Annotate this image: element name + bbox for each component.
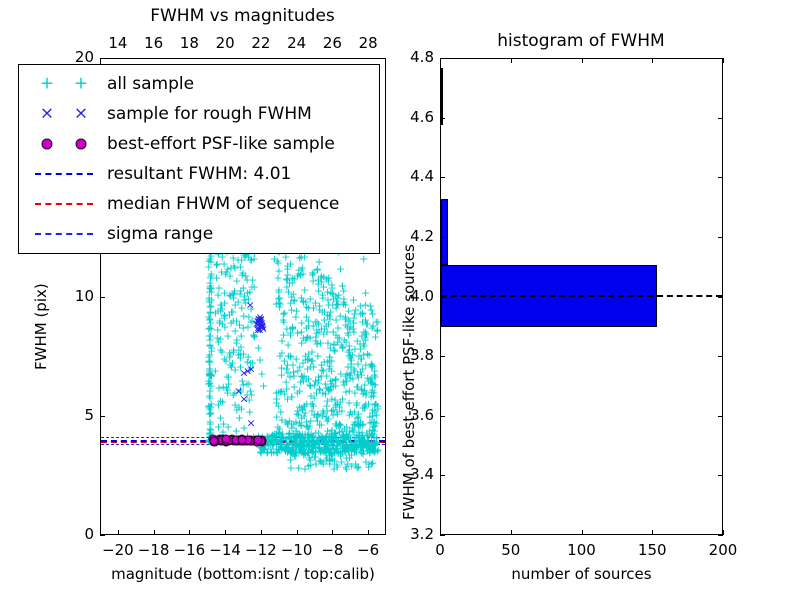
axis-tick xyxy=(582,530,583,535)
legend-marker-plus-icon: ++ xyxy=(25,69,103,99)
axis-tick-label: 5 xyxy=(56,406,94,424)
legend-item: median FHWM of sequence xyxy=(25,189,371,219)
scatter-point-all-sample: + xyxy=(336,263,345,274)
axis-tick xyxy=(332,530,333,535)
scatter-point-all-sample: + xyxy=(373,316,382,327)
scatter-point-all-sample: + xyxy=(212,260,221,271)
axis-tick xyxy=(718,297,723,298)
legend-line-icon xyxy=(35,173,93,175)
scatter-point-rough-fwhm: × xyxy=(257,321,266,332)
scatter-point-all-sample: + xyxy=(308,399,317,410)
legend-item-label: median FHWM of sequence xyxy=(103,194,339,214)
scatter-point-all-sample: + xyxy=(368,428,377,439)
legend-item-label: best-effort PSF-like sample xyxy=(103,134,335,154)
scatter-point-psf-like xyxy=(222,435,231,444)
scatter-point-all-sample: + xyxy=(224,378,233,389)
axis-tick-label: 4.4 xyxy=(392,167,434,185)
legend-plus-icon: + xyxy=(40,76,54,93)
axis-tick-label: 200 xyxy=(701,541,745,559)
scatter-point-all-sample: + xyxy=(360,402,369,413)
legend-circle-icon xyxy=(42,139,53,150)
axis-tick xyxy=(440,475,445,476)
scatter-point-all-sample: + xyxy=(205,409,214,420)
legend-marker-dashed-line-icon xyxy=(25,159,103,189)
scatter-point-all-sample: + xyxy=(367,362,376,373)
scatter-point-all-sample: + xyxy=(222,267,231,278)
axis-tick xyxy=(440,237,445,238)
scatter-point-all-sample: + xyxy=(302,333,311,344)
axis-tick xyxy=(718,237,723,238)
legend-item-label: resultant FWHM: 4.01 xyxy=(103,164,291,184)
axis-tick xyxy=(440,177,445,178)
axis-tick-label: 24 xyxy=(279,34,315,52)
scatter-point-all-sample: + xyxy=(318,387,327,398)
scatter-point-all-sample: + xyxy=(275,351,284,362)
axis-tick xyxy=(718,416,723,417)
left-yaxis-label: FWHM (pix) xyxy=(32,283,50,370)
scatter-point-all-sample: + xyxy=(341,312,350,323)
scatter-point-all-sample: + xyxy=(214,399,223,410)
legend-item-label: all sample xyxy=(103,74,194,94)
scatter-point-all-sample: + xyxy=(238,270,247,281)
axis-tick xyxy=(440,535,445,536)
axis-tick-label: 22 xyxy=(243,34,279,52)
axis-tick xyxy=(718,356,723,357)
axis-tick xyxy=(511,58,512,63)
axis-tick xyxy=(189,530,190,535)
scatter-point-all-sample: + xyxy=(338,393,347,404)
right-plot-axes xyxy=(440,58,723,535)
right-xaxis-label: number of sources xyxy=(440,565,723,583)
axis-tick xyxy=(652,58,653,63)
scatter-point-all-sample: + xyxy=(345,453,354,464)
axis-tick xyxy=(297,530,298,535)
figure-canvas: FWHM vs magnitudes 1416182022242628 ++++… xyxy=(0,0,800,600)
scatter-point-rough-fwhm: × xyxy=(247,364,256,375)
scatter-point-all-sample: + xyxy=(372,410,381,421)
axis-tick-label: 0 xyxy=(418,541,462,559)
axis-tick-label: 100 xyxy=(560,541,604,559)
scatter-point-all-sample: + xyxy=(368,443,377,454)
scatter-point-all-sample: + xyxy=(370,380,379,391)
axis-tick xyxy=(718,177,723,178)
legend-item: ××sample for rough FWHM xyxy=(25,99,371,129)
scatter-point-all-sample: + xyxy=(327,356,336,367)
legend-marker-cross-icon: ×× xyxy=(25,99,103,129)
axis-tick xyxy=(440,416,445,417)
scatter-point-all-sample: + xyxy=(350,407,359,418)
axis-tick-label: 50 xyxy=(489,541,533,559)
axis-tick xyxy=(261,530,262,535)
left-xaxis-label: magnitude (bottom:isnt / top:calib) xyxy=(100,565,386,583)
axis-tick xyxy=(582,58,583,63)
legend-line-icon xyxy=(35,233,93,235)
scatter-point-all-sample: + xyxy=(358,308,367,319)
scatter-point-all-sample: + xyxy=(309,321,318,332)
scatter-point-all-sample: + xyxy=(302,416,311,427)
legend-plus-icon: + xyxy=(74,76,88,93)
axis-tick-label: 4.8 xyxy=(392,48,434,66)
scatter-point-all-sample: + xyxy=(257,368,266,379)
scatter-point-all-sample: + xyxy=(359,254,368,265)
histogram-bar xyxy=(441,68,443,125)
axis-tick xyxy=(440,118,445,119)
axis-tick-label: 0 xyxy=(56,525,94,543)
scatter-point-rough-fwhm: × xyxy=(247,417,256,428)
axis-tick xyxy=(100,297,105,298)
legend-marker-dashdot-line-icon xyxy=(25,219,103,249)
axis-tick-label: 10 xyxy=(56,287,94,305)
scatter-point-all-sample: + xyxy=(231,399,240,410)
histogram-plot-area xyxy=(441,59,722,534)
scatter-point-all-sample: + xyxy=(285,372,294,383)
axis-tick-label: 26 xyxy=(314,34,350,52)
scatter-point-all-sample: + xyxy=(336,368,345,379)
axis-tick-label: 4.6 xyxy=(392,108,434,126)
right-yaxis-label: FWHM of best-effort PSF-like sources xyxy=(400,244,418,520)
legend-item: best-effort PSF-like sample xyxy=(25,129,371,159)
scatter-point-all-sample: + xyxy=(298,432,307,443)
scatter-point-all-sample: + xyxy=(288,324,297,335)
scatter-point-all-sample: + xyxy=(371,332,380,343)
scatter-point-all-sample: + xyxy=(341,433,350,444)
legend-item-label: sample for rough FWHM xyxy=(103,104,312,124)
scatter-point-all-sample: + xyxy=(282,281,291,292)
scatter-point-all-sample: + xyxy=(348,350,357,361)
scatter-point-all-sample: + xyxy=(276,299,285,310)
scatter-point-all-sample: + xyxy=(204,352,213,363)
scatter-point-all-sample: + xyxy=(368,457,377,468)
axis-tick-label: −6 xyxy=(346,541,390,559)
legend-marker-circle-icon xyxy=(25,129,103,159)
scatter-point-all-sample: + xyxy=(346,361,355,372)
scatter-point-all-sample: + xyxy=(320,324,329,335)
scatter-point-all-sample: + xyxy=(244,352,253,363)
axis-tick xyxy=(718,118,723,119)
legend-cross-icon: × xyxy=(74,106,88,123)
histogram-reference-line xyxy=(441,295,722,297)
scatter-point-psf-like xyxy=(209,436,218,445)
axis-tick xyxy=(368,530,369,535)
legend-line-icon xyxy=(35,203,93,205)
plot-legend: ++all sample××sample for rough FWHMbest-… xyxy=(18,64,380,254)
axis-tick xyxy=(511,530,512,535)
scatter-point-all-sample: + xyxy=(271,433,280,444)
legend-item-label: sigma range xyxy=(103,224,213,244)
scatter-point-all-sample: + xyxy=(295,362,304,373)
scatter-point-all-sample: + xyxy=(302,374,311,385)
scatter-point-all-sample: + xyxy=(325,310,334,321)
scatter-point-all-sample: + xyxy=(229,292,238,303)
scatter-point-all-sample: + xyxy=(259,380,268,391)
axis-tick xyxy=(225,530,226,535)
scatter-point-all-sample: + xyxy=(322,371,331,382)
axis-tick-label: 20 xyxy=(207,34,243,52)
axis-tick-label: 28 xyxy=(350,34,386,52)
axis-tick-label: 16 xyxy=(136,34,172,52)
axis-tick-label: 150 xyxy=(630,541,674,559)
axis-tick xyxy=(440,58,445,59)
scatter-point-all-sample: + xyxy=(360,386,369,397)
axis-tick xyxy=(100,535,105,536)
axis-tick xyxy=(118,530,119,535)
axis-tick xyxy=(100,58,105,59)
scatter-point-all-sample: + xyxy=(327,282,336,293)
legend-item: ++all sample xyxy=(25,69,371,99)
scatter-point-all-sample: + xyxy=(290,296,299,307)
scatter-point-all-sample: + xyxy=(298,405,307,416)
axis-tick xyxy=(723,530,724,535)
axis-tick xyxy=(100,416,105,417)
right-panel-title: histogram of FWHM xyxy=(440,31,722,51)
scatter-point-all-sample: + xyxy=(342,464,351,475)
axis-tick xyxy=(718,475,723,476)
axis-tick xyxy=(154,530,155,535)
histogram-bar xyxy=(441,199,448,265)
scatter-point-all-sample: + xyxy=(361,287,370,298)
scatter-point-all-sample: + xyxy=(283,270,292,281)
scatter-point-all-sample: + xyxy=(324,413,333,424)
axis-tick xyxy=(718,535,723,536)
legend-item: resultant FWHM: 4.01 xyxy=(25,159,371,189)
left-panel-title: FWHM vs magnitudes xyxy=(100,6,385,26)
axis-tick-label: 4.2 xyxy=(392,227,434,245)
axis-tick xyxy=(723,58,724,63)
scatter-point-all-sample: + xyxy=(212,273,221,284)
axis-tick-label: 14 xyxy=(100,34,136,52)
axis-tick xyxy=(718,58,723,59)
scatter-point-all-sample: + xyxy=(345,323,354,334)
scatter-point-all-sample: + xyxy=(329,340,338,351)
axis-tick xyxy=(440,297,445,298)
axis-tick xyxy=(440,356,445,357)
scatter-point-all-sample: + xyxy=(329,293,338,304)
scatter-point-all-sample: + xyxy=(256,447,265,458)
legend-marker-dashed-line-icon xyxy=(25,189,103,219)
scatter-point-rough-fwhm: × xyxy=(239,393,248,404)
legend-item: sigma range xyxy=(25,219,371,249)
legend-circle-icon xyxy=(76,139,87,150)
scatter-point-all-sample: + xyxy=(216,306,225,317)
axis-tick-label: 18 xyxy=(171,34,207,52)
scatter-point-rough-fwhm: × xyxy=(246,299,255,310)
scatter-point-all-sample: + xyxy=(207,370,216,381)
legend-cross-icon: × xyxy=(40,106,54,123)
scatter-point-all-sample: + xyxy=(274,401,283,412)
scatter-point-all-sample: + xyxy=(311,459,320,470)
axis-tick xyxy=(652,530,653,535)
scatter-point-all-sample: + xyxy=(232,338,241,349)
scatter-point-all-sample: + xyxy=(248,274,257,285)
scatter-point-all-sample: + xyxy=(357,330,366,341)
scatter-point-all-sample: + xyxy=(286,455,295,466)
axis-tick-label: 3.2 xyxy=(392,525,434,543)
scatter-point-all-sample: + xyxy=(295,386,304,397)
scatter-point-psf-like xyxy=(238,436,247,445)
scatter-point-all-sample: + xyxy=(304,302,313,313)
scatter-point-all-sample: + xyxy=(224,421,233,432)
scatter-point-psf-like xyxy=(254,435,263,444)
scatter-point-all-sample: + xyxy=(216,333,225,344)
